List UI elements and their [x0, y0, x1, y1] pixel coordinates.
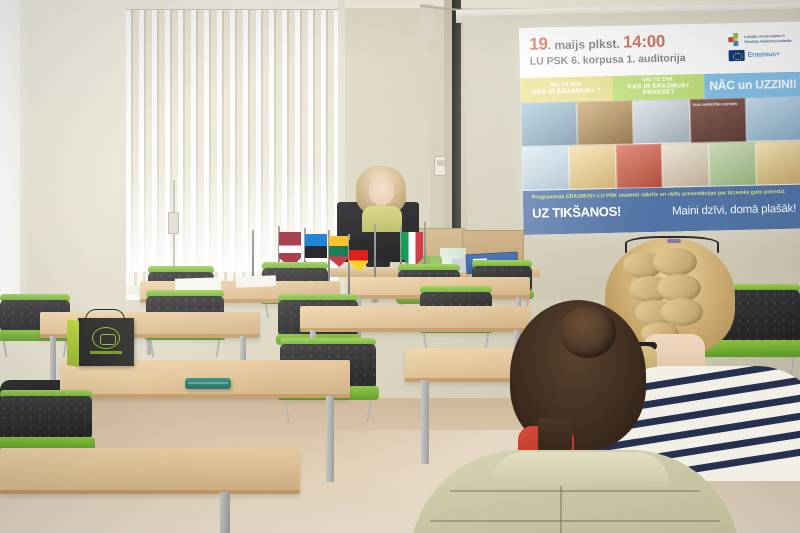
presenter-face: [369, 178, 394, 206]
slide-band-2: VAI TU ZINI, KAS IR ERASMUS+ PRAKSE?: [612, 74, 705, 101]
collage-photo: [756, 141, 800, 186]
light-switch[interactable]: [434, 156, 446, 176]
gift-bag-logo-icon: [92, 327, 120, 349]
gift-bag-side-panel: [67, 319, 79, 367]
collage-photo: [615, 144, 663, 189]
collage-photo: [569, 145, 617, 190]
gift-bag[interactable]: [78, 318, 134, 366]
collage-photo: [745, 97, 800, 142]
collage-photo: [522, 146, 570, 191]
slide-footer: Programmas ERASMUS+ LU PSK studenti stās…: [523, 185, 800, 235]
slide-logos: Latvijas Universitātes P. Stradiņa medic…: [728, 29, 795, 61]
slide-footer-tagline: Maini dzīvi, domā plašāk!: [672, 203, 796, 218]
slide-band-3: NĀC un UZZINI!: [704, 72, 800, 99]
presenter: [356, 166, 406, 226]
erasmus-logo-text: Erasmus+: [748, 51, 780, 59]
attendee-hair-bun: [560, 306, 616, 358]
collage-photo: [633, 99, 690, 144]
erasmus-logo: Erasmus+: [729, 49, 795, 61]
classroom-photo: 19. maijs plkst. 14:00 LU PSK 6. korpusa…: [0, 0, 800, 533]
desk: [0, 448, 300, 494]
collage-photo: [709, 142, 757, 187]
jacket-collar: [490, 452, 670, 486]
collage-photo: [662, 143, 710, 188]
blind-weight: [168, 212, 179, 234]
university-logo: Latvijas Universitātes P. Stradiņa medic…: [728, 32, 794, 46]
paper-sheet: [236, 275, 276, 287]
university-logo-icon: [728, 33, 741, 46]
left-wall-pier: [18, 0, 126, 320]
slide-band-1: VAI TU ZINI, KAS IR ERASMUS+ ?: [520, 76, 613, 103]
left-window-glow: [0, 0, 30, 330]
slide-band-3-line2: NĀC un UZZINI!: [709, 78, 796, 93]
eu-flag-icon: [729, 50, 745, 61]
slide-header: 19. maijs plkst. 14:00 LU PSK 6. korpusa…: [519, 22, 800, 78]
collage-photo-caption: TAVA VARBŪTĪBU KOPUMS: [692, 102, 737, 107]
sunglasses-on-head: [625, 236, 719, 254]
pencil-case[interactable]: [185, 378, 231, 389]
collage-photo: [577, 100, 634, 145]
gift-bag-logo-text: [90, 351, 122, 354]
wall-pipe: [420, 4, 434, 38]
slide-photo-collage: TAVA VARBŪTĪBU KOPUMS: [521, 97, 800, 191]
slide-band-1-line2: KAS IR ERASMUS+ ?: [532, 88, 600, 96]
collage-photo: TAVA VARBŪTĪBU KOPUMS: [689, 98, 746, 143]
slide-band-2-line2: KAS IR ERASMUS+ PRAKSE?: [612, 82, 704, 98]
blind-rail: [122, 0, 348, 10]
slide-footer-note: Programmas ERASMUS+ LU PSK studenti stās…: [532, 189, 796, 201]
collage-row-bottom: [522, 141, 800, 191]
gift-bag-handle[interactable]: [85, 309, 125, 320]
collage-photo: [521, 102, 578, 147]
slide-day: 19: [529, 34, 548, 53]
collage-row-top: TAVA VARBŪTĪBU KOPUMS: [521, 97, 800, 147]
slide-time: 14:00: [623, 32, 665, 52]
slide-month-time-label: . maijs plkst.: [548, 37, 624, 53]
slide-footer-cta: UZ TIKŠANOS!: [532, 204, 621, 221]
projected-slide: 19. maijs plkst. 14:00 LU PSK 6. korpusa…: [519, 22, 800, 235]
attendee-beige-jacket: [420, 300, 720, 533]
university-logo-text: Latvijas Universitātes P. Stradiņa medic…: [744, 33, 794, 44]
